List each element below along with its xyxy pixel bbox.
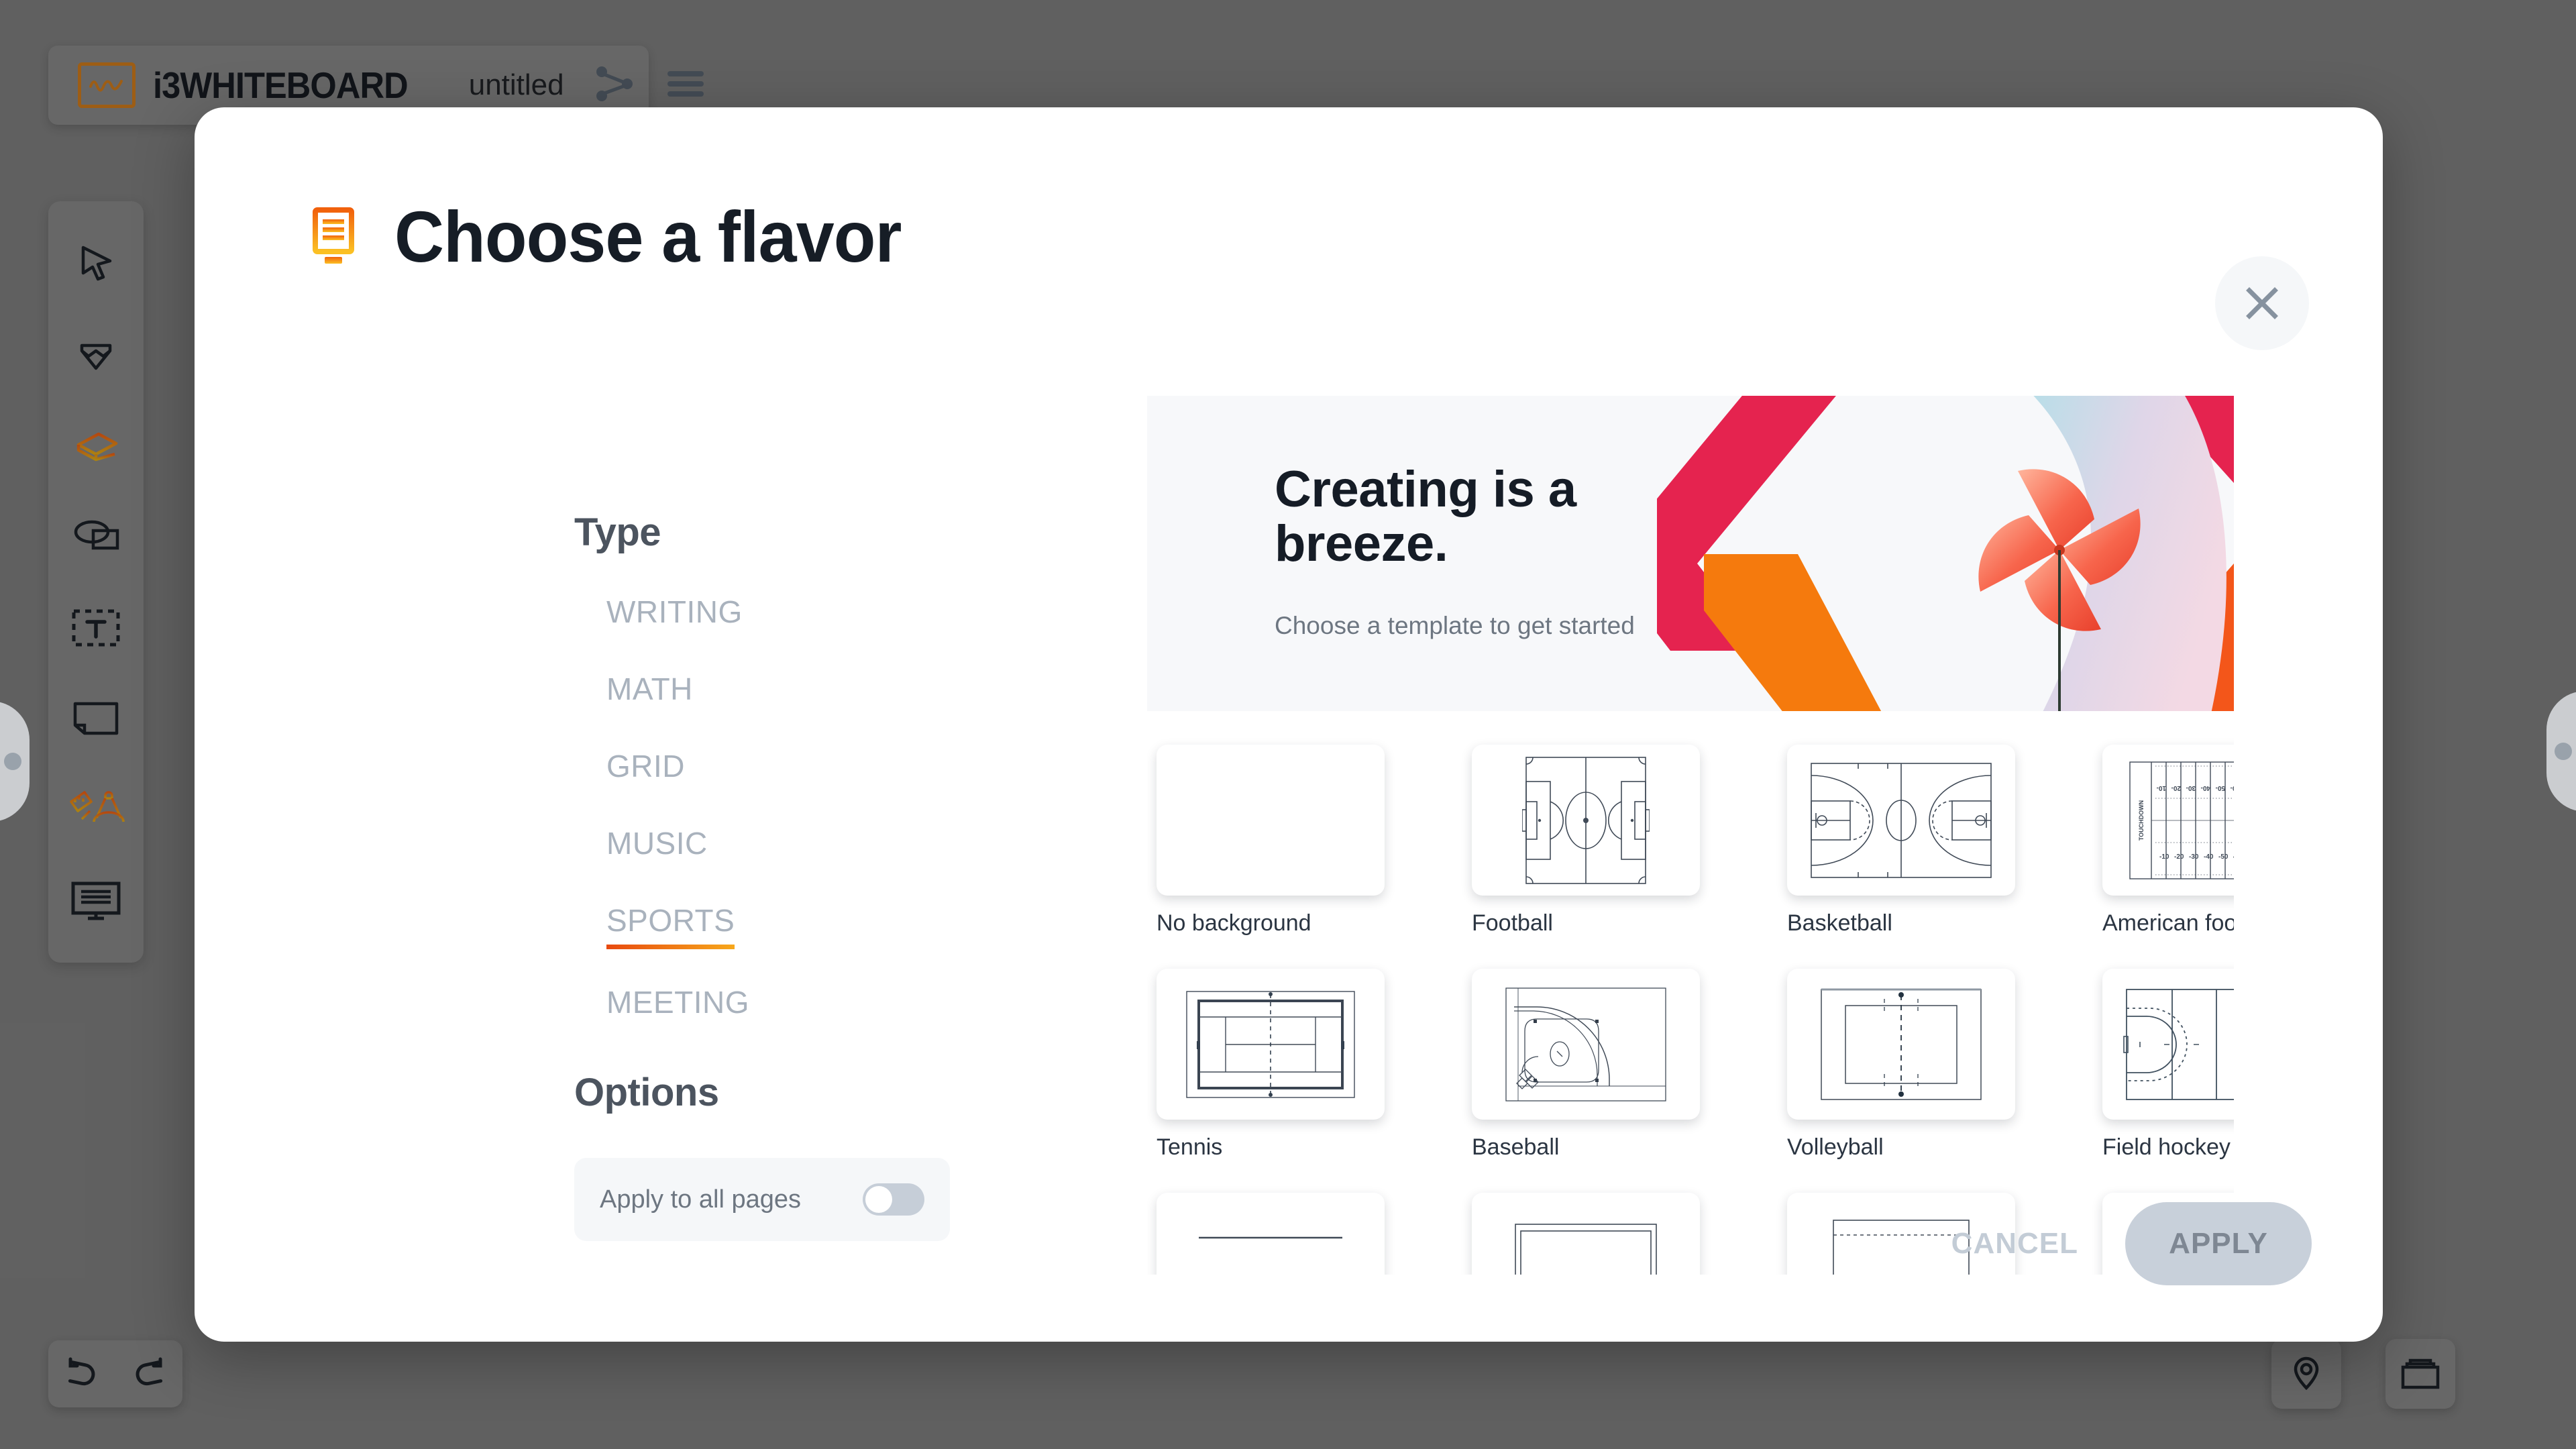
template-cell: Basketball: [1787, 745, 2015, 936]
svg-text:TOUCHDOWN: TOUCHDOWN: [2138, 800, 2145, 840]
svg-text:-20: -20: [2174, 853, 2184, 861]
basketball-court-icon[interactable]: [1787, 745, 2015, 896]
promo-banner: Creating is a breeze. Choose a template …: [1147, 396, 2234, 711]
close-icon[interactable]: [2215, 256, 2309, 350]
svg-text:-50: -50: [2218, 853, 2229, 861]
svg-text:20-: 20-: [2171, 784, 2181, 792]
template-cell: Volleyball: [1787, 969, 2015, 1161]
apply-to-all-pages-toggle[interactable]: [863, 1183, 924, 1216]
template-cell: Tennis: [1157, 969, 1385, 1161]
cancel-button[interactable]: CANCEL: [1951, 1227, 2078, 1260]
template-label: No background: [1157, 910, 1385, 936]
svg-text:40-: 40-: [2201, 784, 2210, 792]
svg-text:50-: 50-: [2216, 784, 2225, 792]
banner-text: Creating is a breeze. Choose a template …: [1275, 463, 1650, 643]
field-hockey-pitch-icon[interactable]: [2102, 969, 2234, 1120]
options-section: Options Apply to all pages: [574, 1070, 957, 1241]
template-cell: Football: [1472, 745, 1700, 936]
blank-template-icon[interactable]: [1157, 745, 1385, 896]
template-label: American football: [2102, 910, 2234, 936]
apply-button[interactable]: APPLY: [2125, 1202, 2312, 1285]
type-heading: Type: [574, 510, 977, 555]
page-title: Choose a flavor: [394, 195, 901, 278]
svg-text:40-: 40-: [2231, 784, 2234, 792]
choose-a-flavor-dialog: Choose a flavor Type WRITING MATH GRID M…: [195, 107, 2383, 1342]
type-item-music[interactable]: MUSIC: [606, 825, 708, 867]
pinwheel-illustration: [1657, 396, 2234, 711]
american-football-field-icon[interactable]: 10- 20- 30- 40- 50- 40- 30- 20- 10- -10 …: [2102, 745, 2234, 896]
partial-template-icon[interactable]: [1157, 1193, 1385, 1275]
partial-template-icon[interactable]: [1472, 1193, 1700, 1275]
presentation-board-icon: [302, 202, 368, 271]
type-item-sports[interactable]: SPORTS: [606, 902, 735, 949]
apply-to-all-pages-label: Apply to all pages: [600, 1185, 801, 1214]
type-item-meeting[interactable]: MEETING: [606, 984, 749, 1026]
template-cell: [1472, 1193, 1700, 1275]
template-cell: Baseball: [1472, 969, 1700, 1161]
toggle-knob: [865, 1186, 892, 1213]
tennis-court-icon[interactable]: [1157, 969, 1385, 1120]
dialog-footer: CANCEL APPLY: [1951, 1202, 2312, 1285]
banner-headline: Creating is a breeze.: [1275, 463, 1650, 571]
svg-text:-30: -30: [2189, 853, 2199, 861]
type-item-grid[interactable]: GRID: [606, 748, 685, 790]
template-label: Field hockey: [2102, 1134, 2234, 1161]
dialog-header: Choose a flavor: [302, 195, 928, 278]
options-heading: Options: [574, 1070, 957, 1115]
type-item-math[interactable]: MATH: [606, 671, 693, 713]
svg-text:10-: 10-: [2157, 784, 2166, 792]
template-label: Volleyball: [1787, 1134, 2015, 1161]
svg-text:40-: 40-: [2233, 853, 2234, 861]
template-grid: No background: [1157, 745, 2234, 1275]
template-label: Football: [1472, 910, 1700, 936]
template-cell: [1157, 1193, 1385, 1275]
svg-text:30-: 30-: [2186, 784, 2196, 792]
template-label: Basketball: [1787, 910, 2015, 936]
template-cell: No background: [1157, 745, 1385, 936]
template-label: Baseball: [1472, 1134, 1700, 1161]
type-item-writing[interactable]: WRITING: [606, 594, 743, 636]
banner-subtitle: Choose a template to get started: [1275, 610, 1650, 643]
template-cell: 10- 20- 30- 40- 50- 40- 30- 20- 10- -10 …: [2102, 745, 2234, 936]
soccer-pitch-icon[interactable]: [1472, 745, 1700, 896]
type-list: WRITING MATH GRID MUSIC SPORTS MEETING: [574, 594, 977, 1061]
template-cell: Field hockey: [2102, 969, 2234, 1161]
template-browser: Creating is a breeze. Choose a template …: [1147, 396, 2234, 1275]
template-label: Tennis: [1157, 1134, 1385, 1161]
baseball-diamond-icon[interactable]: [1472, 969, 1700, 1120]
apply-to-all-pages-row: Apply to all pages: [574, 1158, 950, 1241]
volleyball-court-icon[interactable]: [1787, 969, 2015, 1120]
type-section: Type WRITING MATH GRID MUSIC SPORTS MEET…: [574, 510, 977, 1061]
svg-text:-40: -40: [2204, 853, 2214, 861]
svg-text:-10: -10: [2159, 853, 2169, 861]
